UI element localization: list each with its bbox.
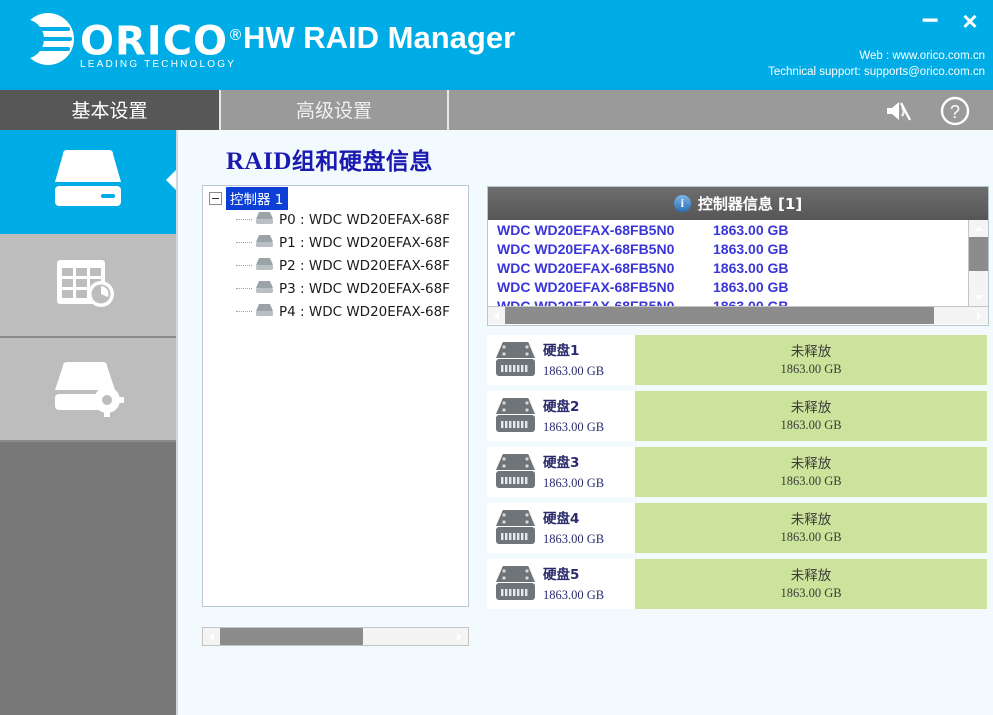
- table-row[interactable]: WDC WD20EFAX-68FB5N0 1863.00 GB: [488, 277, 969, 296]
- drive-small-icon: [255, 210, 274, 230]
- mute-icon[interactable]: [883, 98, 913, 124]
- tree-item-label: P4 : WDC WD20EFAX-68F: [279, 304, 450, 320]
- active-indicator-arrow-icon: [166, 170, 176, 190]
- tree-root-label[interactable]: 控制器 1: [226, 187, 288, 210]
- tree-item-label: P1 : WDC WD20EFAX-68F: [279, 235, 450, 251]
- tree-connector: [236, 242, 252, 244]
- tab-bar: 基本设置 高级设置 ?: [0, 88, 993, 132]
- scroll-thumb[interactable]: [969, 237, 988, 271]
- support-line: Technical support: supports@orico.com.cn: [768, 64, 985, 80]
- tree-connector: [236, 288, 252, 290]
- allocation-state: 未释放: [791, 343, 832, 361]
- allocation-state: 未释放: [791, 567, 832, 585]
- disk-allocation-bar[interactable]: 未释放 1863.00 GB: [635, 503, 987, 553]
- scroll-track[interactable]: [220, 628, 451, 645]
- disk-allocation-bar[interactable]: 未释放 1863.00 GB: [635, 447, 987, 497]
- tree-item-p2[interactable]: P2 : WDC WD20EFAX-68F: [203, 254, 468, 277]
- scroll-thumb[interactable]: [220, 628, 363, 645]
- drive-small-icon: [255, 279, 274, 299]
- tree-connector: [236, 219, 252, 221]
- allocation-state: 未释放: [791, 455, 832, 473]
- disk-model-cell: WDC WD20EFAX-68FB5N0: [488, 279, 713, 295]
- sidebar-item-drive-settings[interactable]: [0, 338, 176, 442]
- tree-item-p0[interactable]: P0 : WDC WD20EFAX-68F: [203, 208, 468, 231]
- controller-info-body: WDC WD20EFAX-68FB5N0 1863.00 GB WDC WD20…: [488, 220, 988, 324]
- disk-size-cell: 1863.00 GB: [713, 241, 833, 257]
- allocation-size: 1863.00 GB: [780, 473, 841, 490]
- disk-icon: [487, 452, 543, 492]
- scroll-down-arrow-icon[interactable]: [969, 289, 988, 306]
- disk-card-list: 硬盘1 1863.00 GB 未释放 1863.00 GB: [487, 335, 987, 615]
- disk-allocation-bar[interactable]: 未释放 1863.00 GB: [635, 335, 987, 385]
- sidebar: [0, 130, 176, 715]
- tree-item-p4[interactable]: P4 : WDC WD20EFAX-68F: [203, 300, 468, 323]
- tree-item-p3[interactable]: P3 : WDC WD20EFAX-68F: [203, 277, 468, 300]
- section-title-cjk: 组和硬盘信息: [292, 149, 433, 175]
- disk-meta: 硬盘2 1863.00 GB: [543, 396, 635, 436]
- tree-root-row[interactable]: 控制器 1: [203, 189, 468, 208]
- section-title: RAID组和硬盘信息: [226, 142, 433, 176]
- disk-allocation-bar[interactable]: 未释放 1863.00 GB: [635, 559, 987, 609]
- info-icon: i: [674, 195, 691, 212]
- disk-size-cell: 1863.00 GB: [713, 222, 833, 238]
- tab-divider: [219, 90, 221, 132]
- tree-item-label: P3 : WDC WD20EFAX-68F: [279, 281, 450, 297]
- brand-block: ORICO® LEADING TECHNOLOGY: [80, 13, 244, 70]
- hard-drive-icon: [49, 148, 127, 215]
- web-line: Web : www.orico.com.cn: [768, 48, 985, 64]
- disk-model-cell: WDC WD20EFAX-68FB5N0: [488, 222, 713, 238]
- disk-icon: [487, 396, 543, 436]
- allocation-size: 1863.00 GB: [780, 529, 841, 546]
- allocation-state: 未释放: [791, 399, 832, 417]
- allocation-size: 1863.00 GB: [780, 417, 841, 434]
- table-row[interactable]: WDC WD20EFAX-68FB5N0 1863.00 GB: [488, 258, 969, 277]
- disk-capacity: 1863.00 GB: [543, 532, 604, 546]
- scroll-thumb[interactable]: [505, 307, 934, 324]
- disk-card[interactable]: 硬盘3 1863.00 GB 未释放 1863.00 GB: [487, 447, 987, 497]
- scroll-right-arrow-icon[interactable]: [451, 628, 468, 645]
- disk-card[interactable]: 硬盘1 1863.00 GB 未释放 1863.00 GB: [487, 335, 987, 385]
- disk-name: 硬盘3: [543, 455, 579, 471]
- disk-size-cell: 1863.00 GB: [713, 260, 833, 276]
- device-tree-panel: 控制器 1 P0 : WDC WD20EFAX-68F P1 : WDC WD2…: [202, 185, 469, 607]
- disk-meta: 硬盘5 1863.00 GB: [543, 564, 635, 604]
- tab-basic-settings[interactable]: 基本设置: [0, 90, 219, 132]
- table-row[interactable]: WDC WD20EFAX-68FB5N0 1863.00 GB: [488, 239, 969, 258]
- raid-table-clock-icon: [49, 252, 127, 319]
- disk-card[interactable]: 硬盘4 1863.00 GB 未释放 1863.00 GB: [487, 503, 987, 553]
- disk-card[interactable]: 硬盘5 1863.00 GB 未释放 1863.00 GB: [487, 559, 987, 609]
- disk-name: 硬盘4: [543, 511, 579, 527]
- disk-name: 硬盘1: [543, 343, 579, 359]
- disk-icon: [487, 508, 543, 548]
- tree-item-p1[interactable]: P1 : WDC WD20EFAX-68F: [203, 231, 468, 254]
- controller-info-header: i 控制器信息 [1]: [488, 187, 988, 220]
- scroll-left-arrow-icon[interactable]: [488, 307, 505, 324]
- drive-small-icon: [255, 233, 274, 253]
- tree-horizontal-scrollbar[interactable]: [202, 627, 469, 646]
- disk-capacity: 1863.00 GB: [543, 364, 604, 378]
- controller-horizontal-scrollbar[interactable]: [488, 306, 988, 324]
- allocation-state: 未释放: [791, 511, 832, 529]
- sidebar-item-raid-status[interactable]: [0, 234, 176, 338]
- scroll-track[interactable]: [969, 237, 988, 289]
- disk-capacity: 1863.00 GB: [543, 588, 604, 602]
- drive-small-icon: [255, 256, 274, 276]
- disk-size-cell: 1863.00 GB: [713, 279, 833, 295]
- scroll-up-arrow-icon[interactable]: [969, 220, 988, 237]
- disk-capacity: 1863.00 GB: [543, 420, 604, 434]
- app-window: ORICO® LEADING TECHNOLOGY HW RAID Manage…: [0, 0, 993, 715]
- registered-mark: ®: [228, 26, 244, 44]
- tab-bar-icons: ?: [883, 90, 971, 132]
- disk-meta: 硬盘3 1863.00 GB: [543, 452, 635, 492]
- svg-text:?: ?: [950, 102, 960, 122]
- page-title: HW RAID Manager: [243, 20, 515, 56]
- scroll-left-arrow-icon[interactable]: [203, 628, 220, 645]
- disk-meta: 硬盘4 1863.00 GB: [543, 508, 635, 548]
- controller-info-panel: i 控制器信息 [1] WDC WD20EFAX-68FB5N0 1863.00…: [487, 186, 989, 326]
- disk-model-cell: WDC WD20EFAX-68FB5N0: [488, 260, 713, 276]
- disk-allocation-bar[interactable]: 未释放 1863.00 GB: [635, 391, 987, 441]
- section-title-latin: RAID: [226, 148, 292, 175]
- controller-info-title: 控制器信息 [1]: [698, 193, 802, 214]
- tree-connector: [236, 311, 252, 313]
- scroll-right-arrow-icon[interactable]: [971, 307, 988, 324]
- controller-disk-list: WDC WD20EFAX-68FB5N0 1863.00 GB WDC WD20…: [488, 220, 969, 315]
- drive-settings-icon: [49, 356, 127, 423]
- allocation-size: 1863.00 GB: [780, 361, 841, 378]
- minimize-button[interactable]: −: [917, 8, 943, 34]
- disk-card[interactable]: 硬盘2 1863.00 GB 未释放 1863.00 GB: [487, 391, 987, 441]
- disk-meta: 硬盘1 1863.00 GB: [543, 340, 635, 380]
- sidebar-item-drive-info[interactable]: [0, 130, 176, 234]
- support-info: Web : www.orico.com.cn Technical support…: [768, 48, 985, 80]
- tab-advanced-settings[interactable]: 高级设置: [221, 90, 447, 132]
- window-controls: − ×: [917, 8, 983, 34]
- disk-name: 硬盘2: [543, 399, 579, 415]
- allocation-size: 1863.00 GB: [780, 585, 841, 602]
- collapse-toggle-icon[interactable]: [209, 192, 222, 205]
- tree-connector: [236, 265, 252, 267]
- help-icon[interactable]: ?: [939, 95, 971, 127]
- disk-icon: [487, 564, 543, 604]
- disk-model-cell: WDC WD20EFAX-68FB5N0: [488, 241, 713, 257]
- tab-divider: [447, 90, 449, 132]
- disk-icon: [487, 340, 543, 380]
- tree-item-label: P2 : WDC WD20EFAX-68F: [279, 258, 450, 274]
- orico-logo-icon: [22, 13, 74, 65]
- scroll-track[interactable]: [505, 307, 971, 324]
- drive-small-icon: [255, 302, 274, 322]
- brand-name: ORICO®: [80, 13, 244, 63]
- disk-name: 硬盘5: [543, 567, 579, 583]
- tree-item-label: P0 : WDC WD20EFAX-68F: [279, 212, 450, 228]
- main-content: RAID组和硬盘信息 控制器 1 P0 : WDC WD20EFAX-68F: [176, 130, 993, 715]
- brand-tagline: LEADING TECHNOLOGY: [80, 59, 244, 70]
- orico-logo: ORICO® LEADING TECHNOLOGY: [22, 13, 244, 70]
- disk-capacity: 1863.00 GB: [543, 476, 604, 490]
- close-button[interactable]: ×: [957, 8, 983, 34]
- controller-vertical-scrollbar[interactable]: [968, 220, 988, 306]
- table-row[interactable]: WDC WD20EFAX-68FB5N0 1863.00 GB: [488, 220, 969, 239]
- title-bar: ORICO® LEADING TECHNOLOGY HW RAID Manage…: [0, 0, 993, 88]
